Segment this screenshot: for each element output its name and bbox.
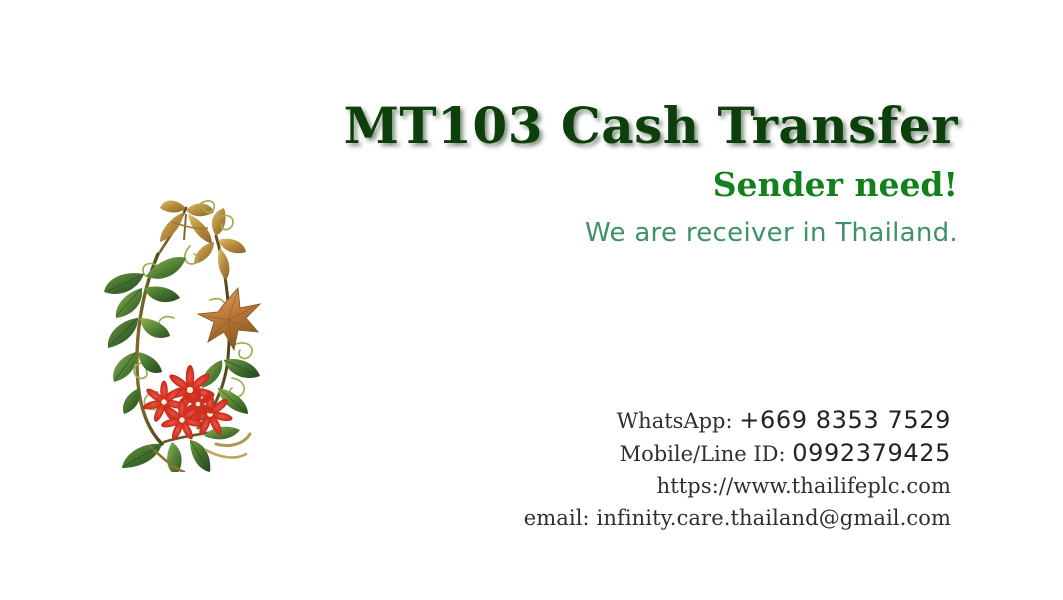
mobile-line: Mobile/Line ID: 0992379425 bbox=[400, 437, 951, 470]
mobile-label: Mobile/Line ID: bbox=[620, 442, 786, 466]
tagline: We are receiver in Thailand. bbox=[200, 216, 958, 250]
email-line[interactable]: email: infinity.care.thailand@gmail.com bbox=[400, 502, 951, 534]
whatsapp-number[interactable]: +669 8353 7529 bbox=[739, 406, 951, 434]
page-title: MT103 Cash Transfer bbox=[200, 96, 958, 156]
poster-canvas: MT103 Cash Transfer Sender need! We are … bbox=[0, 0, 1063, 600]
mobile-number[interactable]: 0992379425 bbox=[792, 439, 951, 467]
whatsapp-label: WhatsApp: bbox=[617, 409, 733, 433]
website-link[interactable]: https://www.thailifeplc.com bbox=[400, 470, 951, 502]
red-flower-cluster bbox=[142, 365, 233, 441]
whatsapp-line: WhatsApp: +669 8353 7529 bbox=[400, 404, 951, 437]
headline-block: MT103 Cash Transfer Sender need! We are … bbox=[200, 96, 958, 250]
contact-block: WhatsApp: +669 8353 7529 Mobile/Line ID:… bbox=[400, 404, 951, 534]
subtitle: Sender need! bbox=[200, 164, 958, 206]
